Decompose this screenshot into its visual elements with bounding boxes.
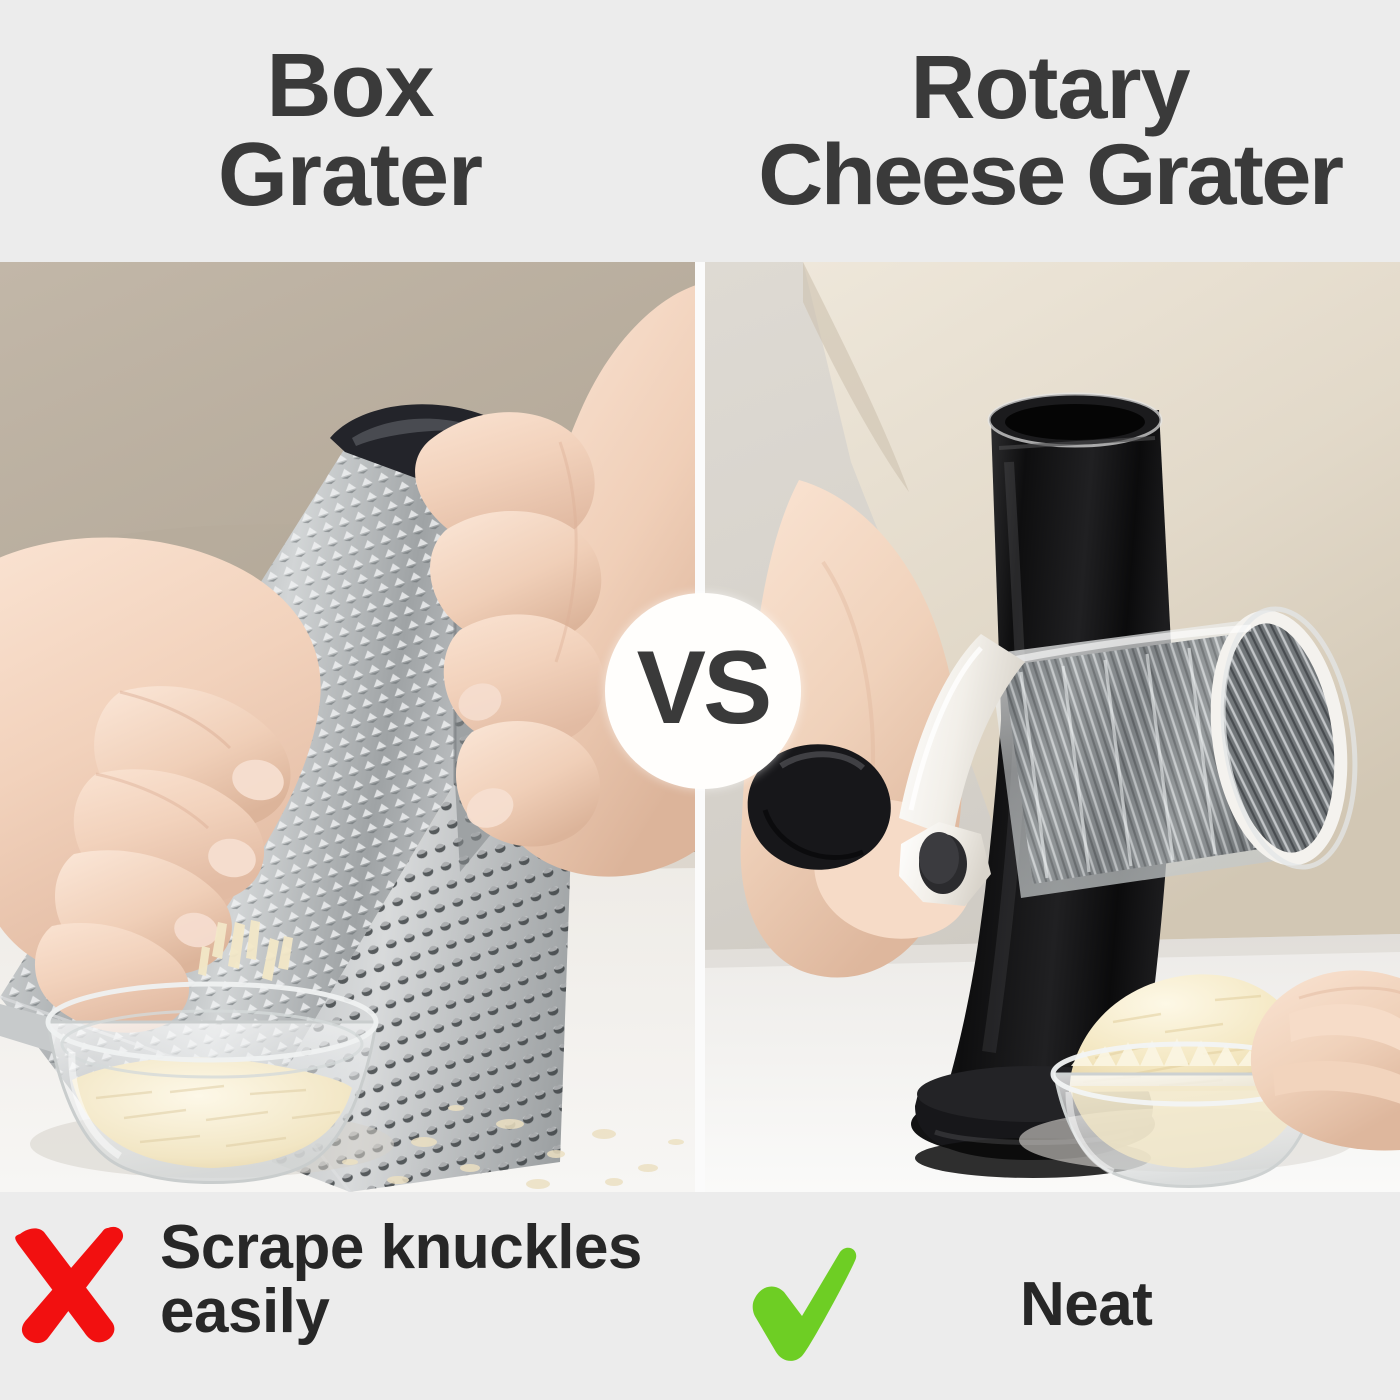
right-product-photo: OSO [703, 262, 1400, 1192]
right-caption: Neat [700, 1192, 1400, 1400]
left-caption-line-2: easily [160, 1280, 630, 1344]
right-caption-text: Neat [1020, 1273, 1152, 1337]
left-title-line-2: Grater [218, 131, 482, 220]
comparison-infographic: Box Grater Rotary Cheese Grater [0, 0, 1400, 1400]
right-caption-line-1: Neat [1020, 1273, 1152, 1337]
left-caption: Scrape knuckles easily [0, 1192, 700, 1400]
left-product-photo [0, 262, 697, 1192]
left-title-line-1: Box [266, 42, 433, 131]
caption-row: Scrape knuckles easily Neat [0, 1192, 1400, 1400]
right-product-title: Rotary Cheese Grater [700, 0, 1400, 262]
left-caption-text: Scrape knuckles easily [160, 1216, 630, 1344]
vs-label: VS [637, 636, 770, 740]
right-title-line-1: Rotary [910, 44, 1189, 133]
left-product-title: Box Grater [0, 0, 700, 262]
right-title-line-2: Cheese Grater [758, 133, 1341, 218]
header-row: Box Grater Rotary Cheese Grater [0, 0, 1400, 262]
vs-badge: VS [605, 593, 801, 789]
green-check-mark-icon [740, 1242, 860, 1362]
left-caption-line-1: Scrape knuckles [160, 1216, 630, 1280]
red-x-mark-icon [8, 1218, 126, 1346]
